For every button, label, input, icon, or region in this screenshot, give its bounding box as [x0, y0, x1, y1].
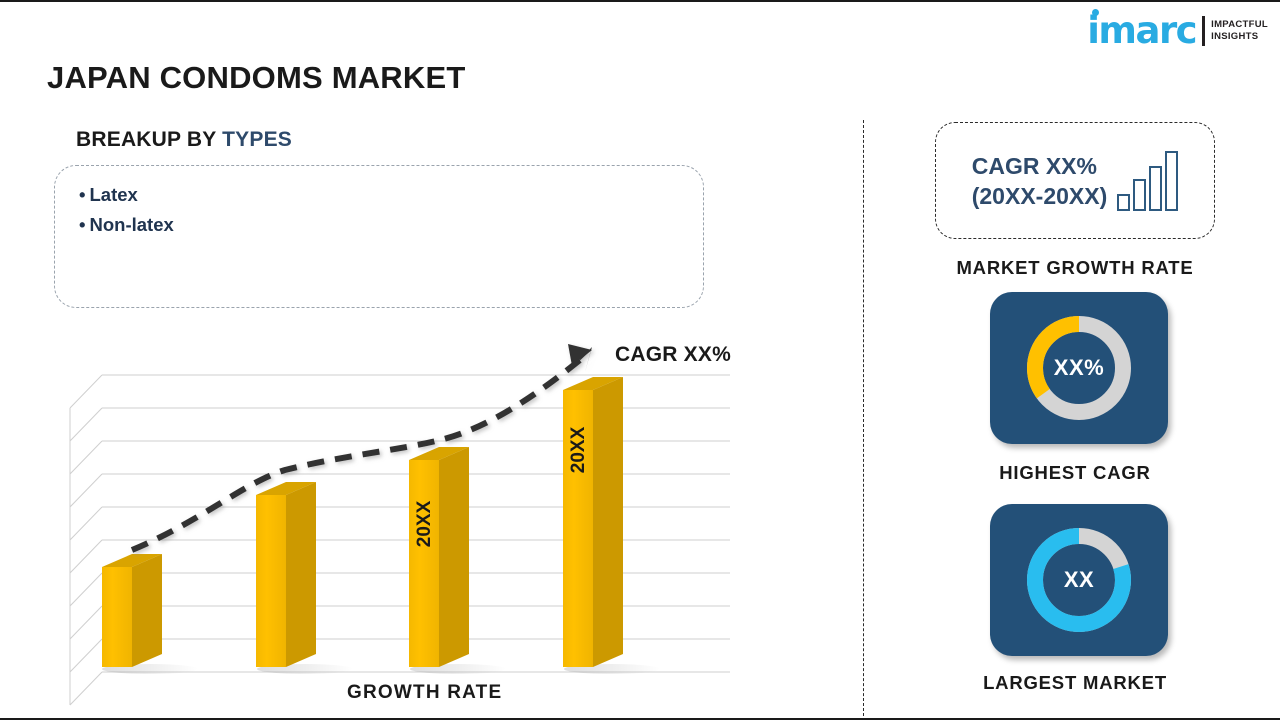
chart-gridlines	[70, 375, 730, 705]
metrics-panel: CAGR XX% (20XX-20XX) MARKET GROWTH RATE …	[880, 112, 1270, 712]
largest-market-card: XX	[990, 504, 1168, 656]
logo-tagline-line1: IMPACTFUL	[1211, 19, 1268, 30]
donut-value-highest-cagr: XX%	[1054, 355, 1104, 381]
bullet-icon: •	[79, 214, 85, 235]
list-item: •Latex	[79, 180, 679, 210]
chart-axis-label: GROWTH RATE	[347, 682, 502, 704]
list-item: •Non-latex	[79, 210, 679, 240]
cagr-callout-box: CAGR XX% (20XX-20XX)	[935, 122, 1215, 239]
bar-chart-icon	[1117, 151, 1178, 211]
cagr-callout-text: CAGR XX% (20XX-20XX)	[972, 151, 1108, 211]
bar-2	[256, 482, 316, 667]
metric-caption-largest-market: LARGEST MARKET	[880, 672, 1270, 694]
page-title: JAPAN CONDOMS MARKET	[47, 60, 466, 96]
list-item-label: Latex	[89, 184, 137, 205]
infographic-page: imarc IMPACTFUL INSIGHTS JAPAN CONDOMS M…	[0, 0, 1280, 720]
logo-divider	[1202, 16, 1205, 46]
chart-cagr-annotation: CAGR XX%	[615, 343, 731, 367]
bar-3: 20XX	[409, 447, 469, 667]
chart-svg: 20XX 20XX	[40, 332, 760, 712]
bar-3-label: 20XX	[414, 500, 435, 547]
metric-caption-market-growth-rate: MARKET GROWTH RATE	[880, 257, 1270, 279]
bullet-icon: •	[79, 184, 85, 205]
donut-value-largest-market: XX	[1064, 567, 1094, 593]
vertical-divider	[863, 120, 864, 716]
metric-caption-highest-cagr: HIGHEST CAGR	[880, 462, 1270, 484]
breakup-heading-accent: TYPES	[222, 128, 292, 151]
cagr-callout-line1: CAGR XX%	[972, 151, 1108, 181]
breakup-heading: BREAKUP BY TYPES	[76, 128, 292, 152]
cagr-callout-line2: (20XX-20XX)	[972, 181, 1108, 211]
list-item-label: Non-latex	[89, 214, 173, 235]
logo-tagline: IMPACTFUL INSIGHTS	[1211, 19, 1268, 43]
bar-4: 20XX	[563, 377, 623, 667]
logo-tagline-line2: INSIGHTS	[1211, 31, 1258, 42]
imarc-logo: imarc IMPACTFUL INSIGHTS	[1087, 12, 1268, 49]
logo-wordmark: imarc	[1087, 12, 1200, 49]
growth-rate-bar-chart: 20XX 20XX	[40, 332, 760, 712]
highest-cagr-card: XX%	[990, 292, 1168, 444]
breakup-heading-prefix: BREAKUP BY	[76, 128, 222, 151]
bar-4-label: 20XX	[568, 426, 589, 473]
types-list-box: •Latex •Non-latex	[54, 165, 704, 308]
bar-1	[102, 554, 162, 667]
